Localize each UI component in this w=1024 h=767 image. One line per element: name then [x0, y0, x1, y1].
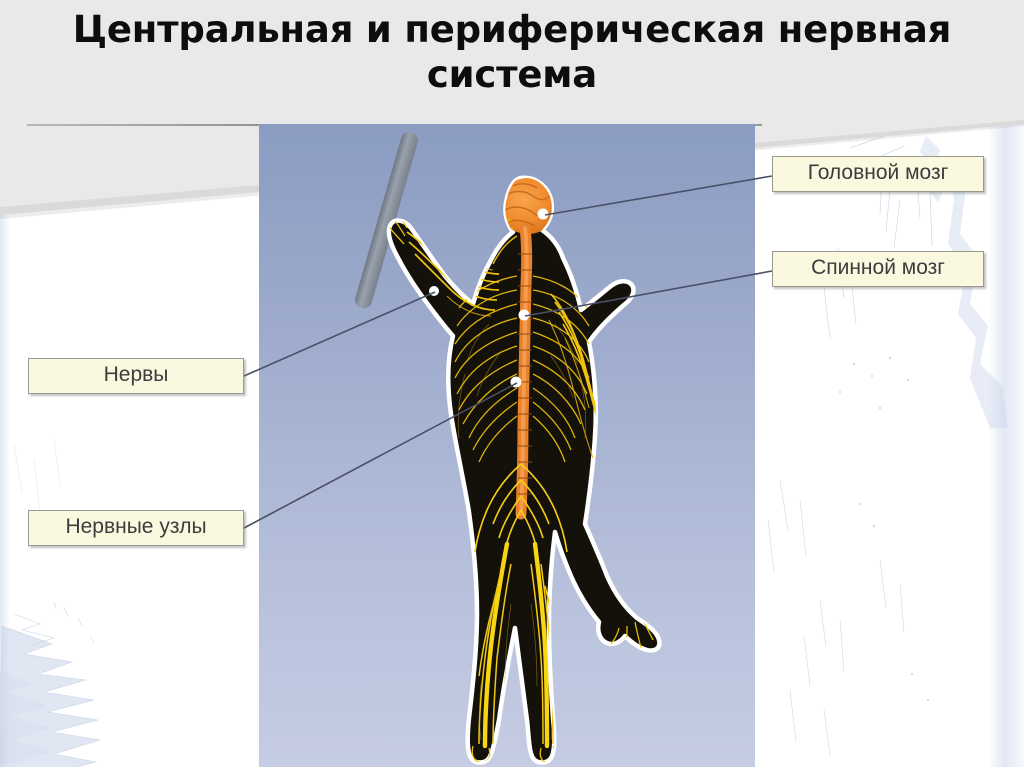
background-right-band: [988, 124, 1024, 767]
background-left-edge-band: [0, 215, 10, 767]
page-title: Центральная и периферическая нервная сис…: [60, 7, 964, 97]
callout-label-ganglia[interactable]: Нервные узлы: [28, 510, 244, 546]
callout-label-nerves[interactable]: Нервы: [28, 358, 244, 394]
slide-canvas: Центральная и периферическая нервная сис…: [0, 0, 1024, 767]
watermark-splash-bottom-left: [0, 596, 164, 767]
callout-label-brain[interactable]: Головной мозг: [772, 156, 984, 192]
watermark-splash-right-lower: [760, 460, 960, 760]
callout-label-spinal-cord[interactable]: Спинной мозг: [772, 251, 984, 287]
nervous-system-figure: [259, 124, 755, 767]
